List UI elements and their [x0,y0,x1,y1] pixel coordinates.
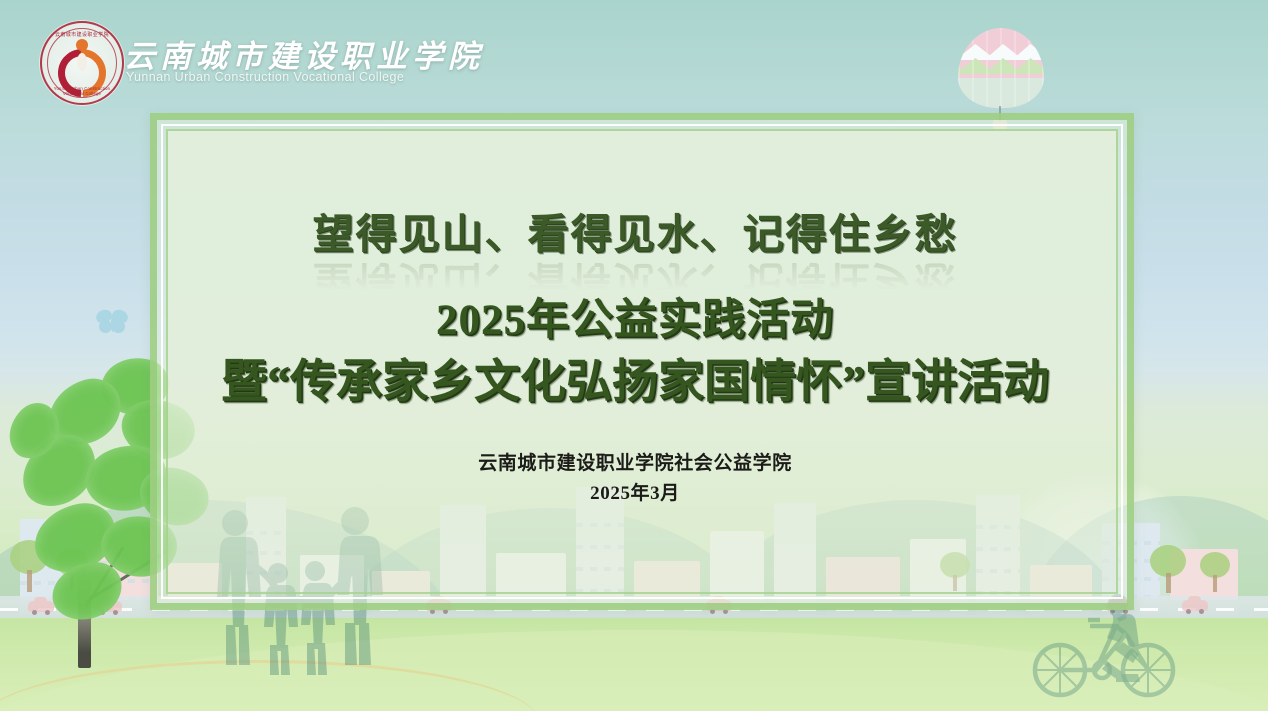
page-header: 云南城市建设职业学院 Yunnan Urban Construction Voc… [0,0,1268,105]
poster-canvas: 望得见山、看得见水、记得住乡愁 望得见山、看得见水、记得住乡愁 2025年公益实… [0,0,1268,711]
tagline: 望得见山、看得见水、记得住乡愁 [150,214,1120,255]
butterfly-icon [96,310,130,336]
poster-content: 望得见山、看得见水、记得住乡愁 望得见山、看得见水、记得住乡愁 2025年公益实… [150,113,1120,596]
title-line-2: 暨“传承家乡文化弘扬家国情怀”宣讲活动 [150,345,1120,411]
title-line-1: 2025年公益实践活动 [150,285,1120,347]
school-name-en: Yunnan Urban Construction Vocational Col… [126,70,404,84]
college-seal-icon: 云南城市建设职业学院 Yunnan Urban Construction Voc… [40,21,124,105]
seal-arc-bottom: Yunnan Urban Construction Vocational Col… [50,86,114,96]
date-text: 2025年3月 [150,478,1120,505]
tagline-block: 望得见山、看得见水、记得住乡愁 望得见山、看得见水、记得住乡愁 [150,214,1120,276]
organizer-text: 云南城市建设职业学院社会公益学院 [150,448,1120,475]
